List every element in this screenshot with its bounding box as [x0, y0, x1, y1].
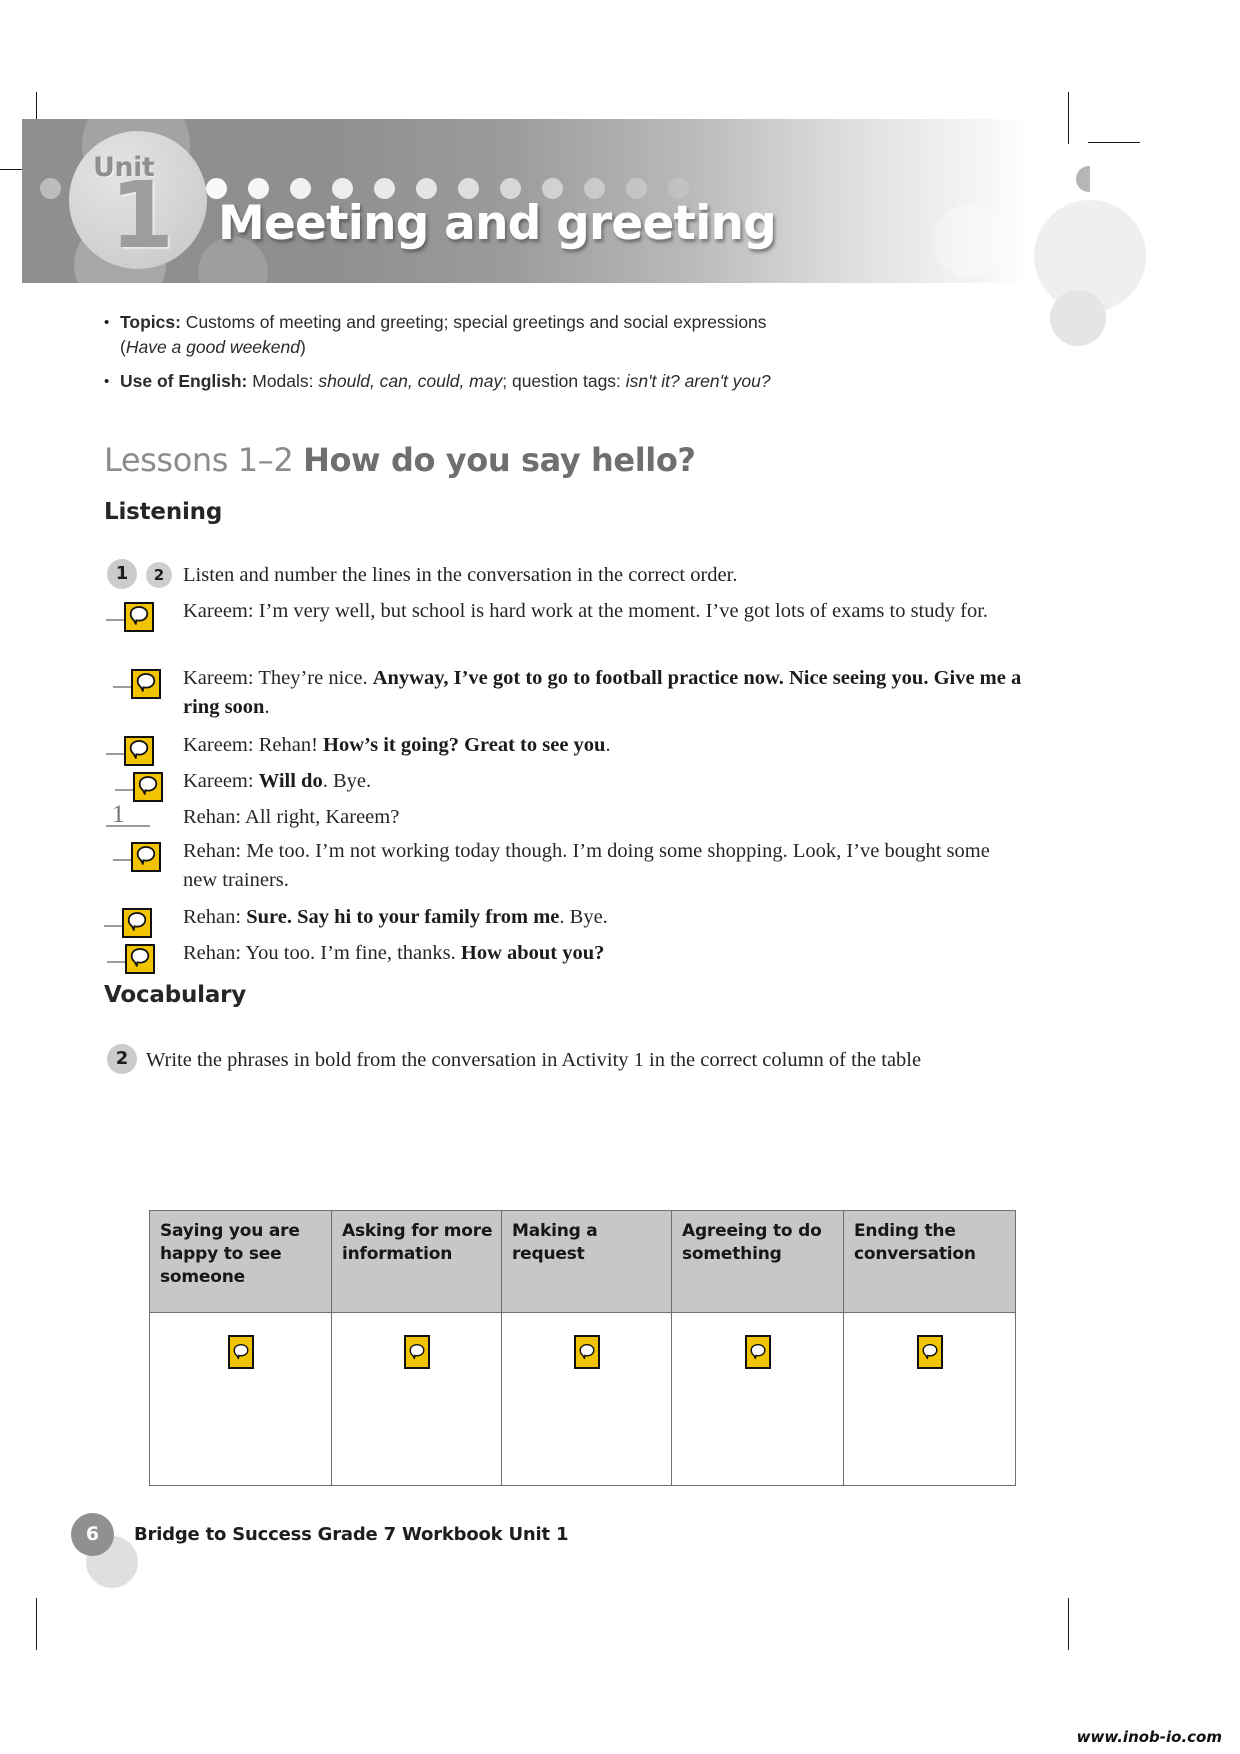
activity-1-instruction: Listen and number the lines in the conve…	[183, 561, 1023, 589]
decorative-circle-small	[1050, 290, 1106, 346]
speech-bubble-icon	[131, 669, 161, 699]
dialogue-text: Rehan: Sure. Say hi to your family from …	[183, 903, 1023, 932]
use-italic-1: should, can, could, may	[318, 371, 502, 391]
dialogue-phrase-bold: How’s it going? Great to see you	[323, 734, 605, 756]
section-heading-vocabulary: Vocabulary	[104, 982, 246, 1008]
dialogue-phrase: Kareem: They’re nice.	[183, 667, 373, 689]
speech-bubble-glyph	[125, 910, 149, 934]
dialogue-phrase: Rehan: You too. I’m fine, thanks.	[183, 942, 461, 964]
dialogue-phrase: Kareem:	[183, 770, 259, 792]
speech-bubble-icon	[125, 944, 155, 974]
cell-icon-wrap	[150, 1313, 331, 1369]
speech-bubble-icon	[124, 602, 154, 632]
dialogue-phrase: .	[264, 696, 269, 718]
unit-number: 1	[110, 170, 174, 262]
dialogue-phrase-bold: Will do	[259, 770, 323, 792]
speech-bubble-glyph	[408, 1341, 426, 1363]
table-header-cell-4: Agreeing to do something	[672, 1211, 844, 1313]
section-heading-listening: Listening	[104, 499, 222, 525]
dialogue-phrase-bold: Sure. Say hi to your family from me	[246, 906, 559, 928]
speech-bubble-icon	[917, 1335, 943, 1369]
crop-mark-top-right-h	[1088, 142, 1140, 143]
dialogue-phrase: .	[605, 734, 610, 756]
dialogue-phrase: Rehan: Me too. I’m not working today tho…	[183, 840, 990, 891]
cell-icon-wrap	[332, 1313, 501, 1369]
speech-bubble-glyph	[578, 1341, 596, 1363]
table-row	[150, 1313, 1016, 1486]
use-text-2: ; question tags:	[502, 371, 626, 391]
speech-bubble-glyph	[128, 946, 152, 970]
activity-1-number: 1	[107, 559, 137, 589]
dialogue-phrase: . Bye.	[323, 770, 371, 792]
speech-bubble-glyph	[134, 844, 158, 868]
cell-icon-wrap	[502, 1313, 671, 1369]
speech-bubble-glyph	[136, 774, 160, 798]
dialogue-text: Rehan: You too. I’m fine, thanks. How ab…	[183, 939, 1023, 968]
dialogue-phrase: Kareem: I’m very well, but school is har…	[183, 600, 988, 622]
decorative-half-circle	[1076, 166, 1090, 192]
topics-sub-close: )	[300, 337, 306, 357]
dialogue-text: Rehan: Me too. I’m not working today tho…	[183, 837, 1023, 895]
dialogue-phrase: Kareem: Rehan!	[183, 734, 323, 756]
crop-mark-top-right-v	[1068, 92, 1069, 144]
table-header-cell-2: Asking for more information	[332, 1211, 502, 1313]
table-header-cell-5: Ending the conversation	[844, 1211, 1016, 1313]
speech-bubble-glyph	[921, 1341, 939, 1363]
activity-2-instruction: Write the phrases in bold from the conve…	[146, 1046, 1036, 1074]
dialogue-text: Kareem: Rehan! How’s it going? Great to …	[183, 731, 1023, 760]
dialogue-text: Kareem: Will do. Bye.	[183, 767, 1023, 796]
topics-subline: (Have a good weekend)	[120, 335, 984, 360]
speech-bubble-icon	[574, 1335, 600, 1369]
use-text-1: Modals:	[247, 371, 318, 391]
dialogue-phrase: Rehan:	[183, 906, 246, 928]
watermark: www.inob-io.com	[1077, 1728, 1222, 1746]
dialogue-text: Kareem: They’re nice. Anyway, I’ve got t…	[183, 664, 1023, 722]
speech-bubble-icon	[131, 842, 161, 872]
banner-bubble-4	[932, 205, 1004, 277]
speech-bubble-icon	[122, 908, 152, 938]
activity-2-number: 2	[107, 1044, 137, 1074]
lessons-prefix: Lessons 1–2	[104, 441, 303, 479]
dialogue-text: Rehan: All right, Kareem?	[183, 803, 1023, 832]
table-header-cell-3: Making a request	[502, 1211, 672, 1313]
speech-bubble-icon	[404, 1335, 430, 1369]
bullet-icon: •	[104, 369, 109, 394]
lessons-heading: Lessons 1–2 How do you say hello?	[104, 440, 696, 480]
speech-bubble-glyph	[134, 671, 158, 695]
topics-list: • Topics: Customs of meeting and greetin…	[104, 310, 984, 403]
topics-label: Topics:	[120, 312, 181, 332]
speech-bubble-glyph	[749, 1341, 767, 1363]
speech-bubble-glyph	[127, 604, 151, 628]
topics-item: • Topics: Customs of meeting and greetin…	[104, 310, 984, 360]
vocabulary-table: Saying you are happy to see someoneAskin…	[149, 1210, 1016, 1486]
speech-bubble-glyph	[232, 1341, 250, 1363]
table-header-row: Saying you are happy to see someoneAskin…	[150, 1211, 1016, 1313]
table-answer-cell-5[interactable]	[844, 1313, 1016, 1486]
speech-bubble-icon	[133, 772, 163, 802]
speech-bubble-icon	[124, 736, 154, 766]
lessons-title: How do you say hello?	[303, 441, 696, 479]
topics-text: Customs of meeting and greeting; special…	[181, 312, 767, 332]
page-number-badge: 6	[71, 1513, 114, 1556]
dialogue-phrase: Rehan: All right, Kareem?	[183, 806, 399, 828]
crop-mark-bottom-right-v	[1068, 1598, 1069, 1650]
dialogue-text: Kareem: I’m very well, but school is har…	[183, 597, 1023, 626]
table-answer-cell-1[interactable]	[150, 1313, 332, 1486]
page-title: Meeting and greeting	[218, 196, 776, 252]
dialogue-phrase-bold: How about you?	[461, 942, 605, 964]
cell-icon-wrap	[672, 1313, 843, 1369]
speech-bubble-glyph	[127, 738, 151, 762]
bullet-icon: •	[104, 310, 109, 335]
use-italic-2: isn't it? aren't you?	[626, 371, 771, 391]
use-of-english-label: Use of English:	[120, 371, 247, 391]
table-answer-cell-3[interactable]	[502, 1313, 672, 1486]
activity-1-audio-track[interactable]: 2	[146, 562, 172, 588]
cell-icon-wrap	[844, 1313, 1015, 1369]
table-answer-cell-2[interactable]	[332, 1313, 502, 1486]
answer-handwritten: 1	[112, 801, 125, 829]
speech-bubble-icon	[745, 1335, 771, 1369]
crop-mark-bottom-left-v	[36, 1598, 37, 1650]
dialogue-phrase: . Bye.	[559, 906, 607, 928]
table-answer-cell-4[interactable]	[672, 1313, 844, 1486]
footer-book-line: Bridge to Success Grade 7 Workbook Unit …	[134, 1524, 568, 1545]
topics-sub-italic: Have a good weekend	[126, 337, 300, 357]
speech-bubble-icon	[228, 1335, 254, 1369]
use-of-english-item: • Use of English: Modals: should, can, c…	[104, 369, 984, 394]
table-header-cell-1: Saying you are happy to see someone	[150, 1211, 332, 1313]
